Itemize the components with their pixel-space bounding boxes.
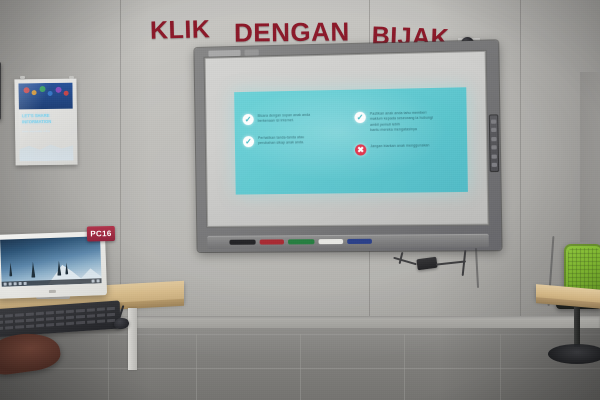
- bullet-line: berkenaan isi Internet.: [258, 118, 311, 124]
- pen-red[interactable]: [260, 239, 284, 244]
- keypad-button[interactable]: [491, 119, 496, 123]
- taskbar-icon[interactable]: [4, 283, 7, 286]
- check-icon: ✓: [243, 114, 254, 125]
- bullet-text: Pastikan anak anda tahu memberi maklum k…: [370, 110, 433, 133]
- taskbar-icon[interactable]: [19, 282, 22, 285]
- taskbar-icon[interactable]: [92, 279, 95, 282]
- chair-base: [548, 344, 600, 364]
- whiteboard-side-speaker: [0, 62, 1, 120]
- list-item: ✓ Perhatikan tanda-tanda atau perubahan …: [243, 134, 345, 147]
- keypad-button[interactable]: [491, 128, 496, 132]
- desk-left-leg: [128, 308, 137, 370]
- pen-white[interactable]: [319, 239, 344, 244]
- bullet-text: Jangan biarkan anak menggunakan: [370, 143, 429, 149]
- pen-blue[interactable]: [347, 239, 372, 244]
- keypad-button[interactable]: [492, 163, 497, 167]
- chair-gas-cylinder: [574, 307, 580, 347]
- keypad-button[interactable]: [491, 137, 496, 141]
- whiteboard-keypad[interactable]: [489, 114, 499, 172]
- list-item: ✖ Jangan biarkan anak menggunakan: [355, 143, 459, 156]
- interactive-whiteboard[interactable]: ✓ Bicara dengan sopan anak anda berkenaa…: [194, 40, 501, 252]
- list-item: ✓ Bicara dengan sopan anak anda berkenaa…: [243, 112, 345, 125]
- list-item: ✓ Pastikan anak anda tahu memberi maklum…: [354, 110, 458, 133]
- taskbar-icon[interactable]: [97, 279, 100, 282]
- pc-brand-logo: [48, 289, 55, 292]
- check-icon: ✓: [243, 136, 254, 147]
- bullet-line: maklum kepada seseorang ia hubungi: [370, 116, 433, 123]
- taskbar-icon[interactable]: [24, 282, 27, 285]
- bullet-line: Jangan biarkan anak menggunakan: [370, 143, 429, 149]
- pen-green[interactable]: [288, 239, 315, 244]
- bullet-line: bantu mereka mengatasinya: [370, 127, 433, 133]
- bullet-text: Perhatikan tanda-tanda atau perubahan si…: [258, 135, 304, 146]
- headline-word-1: KLIK: [150, 15, 211, 46]
- classroom-photo-scene: KLIK DENGAN BIJAK LET'S SHARE INFORMATIO…: [0, 0, 600, 400]
- whiteboard-surface[interactable]: ✓ Bicara dengan sopan anak anda berkenaa…: [206, 52, 488, 226]
- slide-column-right: ✓ Pastikan anak anda tahu memberi maklum…: [354, 110, 459, 183]
- poster-glass-glare: [18, 83, 73, 162]
- poster-frame: LET'S SHARE INFORMATION share responsibl…: [14, 79, 77, 166]
- pc-label-tag: PC16: [87, 226, 115, 241]
- headline-word-2: DENGAN: [233, 16, 349, 48]
- bullet-line: perubahan sikap anak anda.: [258, 140, 304, 146]
- pen-black[interactable]: [229, 240, 255, 245]
- wall-poster: LET'S SHARE INFORMATION share responsibl…: [18, 83, 73, 162]
- whiteboard-pen-tray[interactable]: [207, 234, 488, 249]
- check-icon: ✓: [354, 112, 365, 123]
- slide-column-left: ✓ Bicara dengan sopan anak anda berkenaa…: [243, 112, 346, 184]
- slide-bullet-columns: ✓ Bicara dengan sopan anak anda berkenaa…: [243, 110, 460, 184]
- taskbar-icon[interactable]: [9, 282, 12, 285]
- bullet-text: Bicara dengan sopan anak anda berkenaan …: [258, 113, 311, 125]
- keypad-button[interactable]: [491, 146, 496, 150]
- cross-icon: ✖: [355, 144, 366, 155]
- projected-slide: ✓ Bicara dengan sopan anak anda berkenaa…: [234, 87, 468, 194]
- pc-screen[interactable]: [0, 236, 102, 286]
- taskbar-icon[interactable]: [14, 282, 17, 285]
- all-in-one-pc[interactable]: PC16: [0, 231, 107, 299]
- keypad-button[interactable]: [492, 154, 497, 158]
